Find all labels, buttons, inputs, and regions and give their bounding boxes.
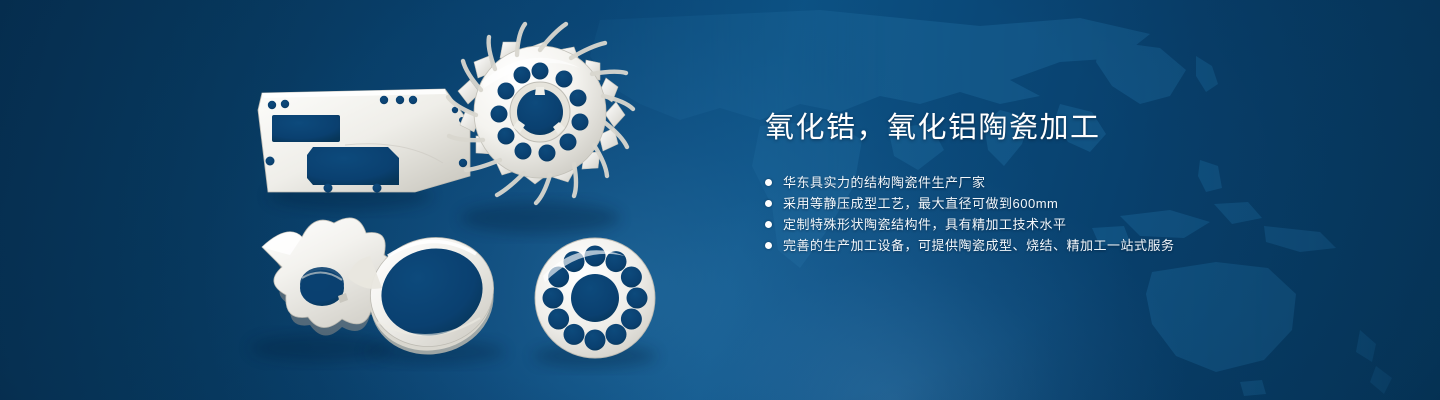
- list-item-label: 完善的生产加工设备，可提供陶瓷成型、烧结、精加工一站式服务: [783, 235, 1175, 256]
- bullet-dot-icon: [765, 179, 772, 186]
- list-item-label: 定制特殊形状陶瓷结构件，具有精加工技术水平: [783, 214, 1067, 235]
- list-item: 华东具实力的结构陶瓷件生产厂家: [765, 172, 1385, 193]
- product-photo-group: [0, 0, 740, 400]
- list-item-label: 华东具实力的结构陶瓷件生产厂家: [783, 172, 986, 193]
- product-photo-svg: [0, 0, 740, 400]
- list-item-label: 采用等静压成型工艺，最大直径可做到600mm: [783, 193, 1058, 214]
- feature-list: 华东具实力的结构陶瓷件生产厂家 采用等静压成型工艺，最大直径可做到600mm 定…: [765, 172, 1385, 256]
- ceramic-perforated-disc: [535, 238, 655, 358]
- list-item: 定制特殊形状陶瓷结构件，具有精加工技术水平: [765, 214, 1385, 235]
- page-title: 氧化锆，氧化铝陶瓷加工: [765, 108, 1385, 148]
- bullet-dot-icon: [765, 200, 772, 207]
- list-item: 采用等静压成型工艺，最大直径可做到600mm: [765, 193, 1385, 214]
- ceramic-impeller: [448, 24, 633, 203]
- hero-banner: 氧化锆，氧化铝陶瓷加工 华东具实力的结构陶瓷件生产厂家 采用等静压成型工艺，最大…: [0, 0, 1440, 400]
- bullet-dot-icon: [765, 221, 772, 228]
- ceramic-machined-plate: [258, 89, 470, 193]
- list-item: 完善的生产加工设备，可提供陶瓷成型、烧结、精加工一站式服务: [765, 235, 1385, 256]
- bullet-dot-icon: [765, 242, 772, 249]
- banner-copy: 氧化锆，氧化铝陶瓷加工 华东具实力的结构陶瓷件生产厂家 采用等静压成型工艺，最大…: [765, 108, 1385, 256]
